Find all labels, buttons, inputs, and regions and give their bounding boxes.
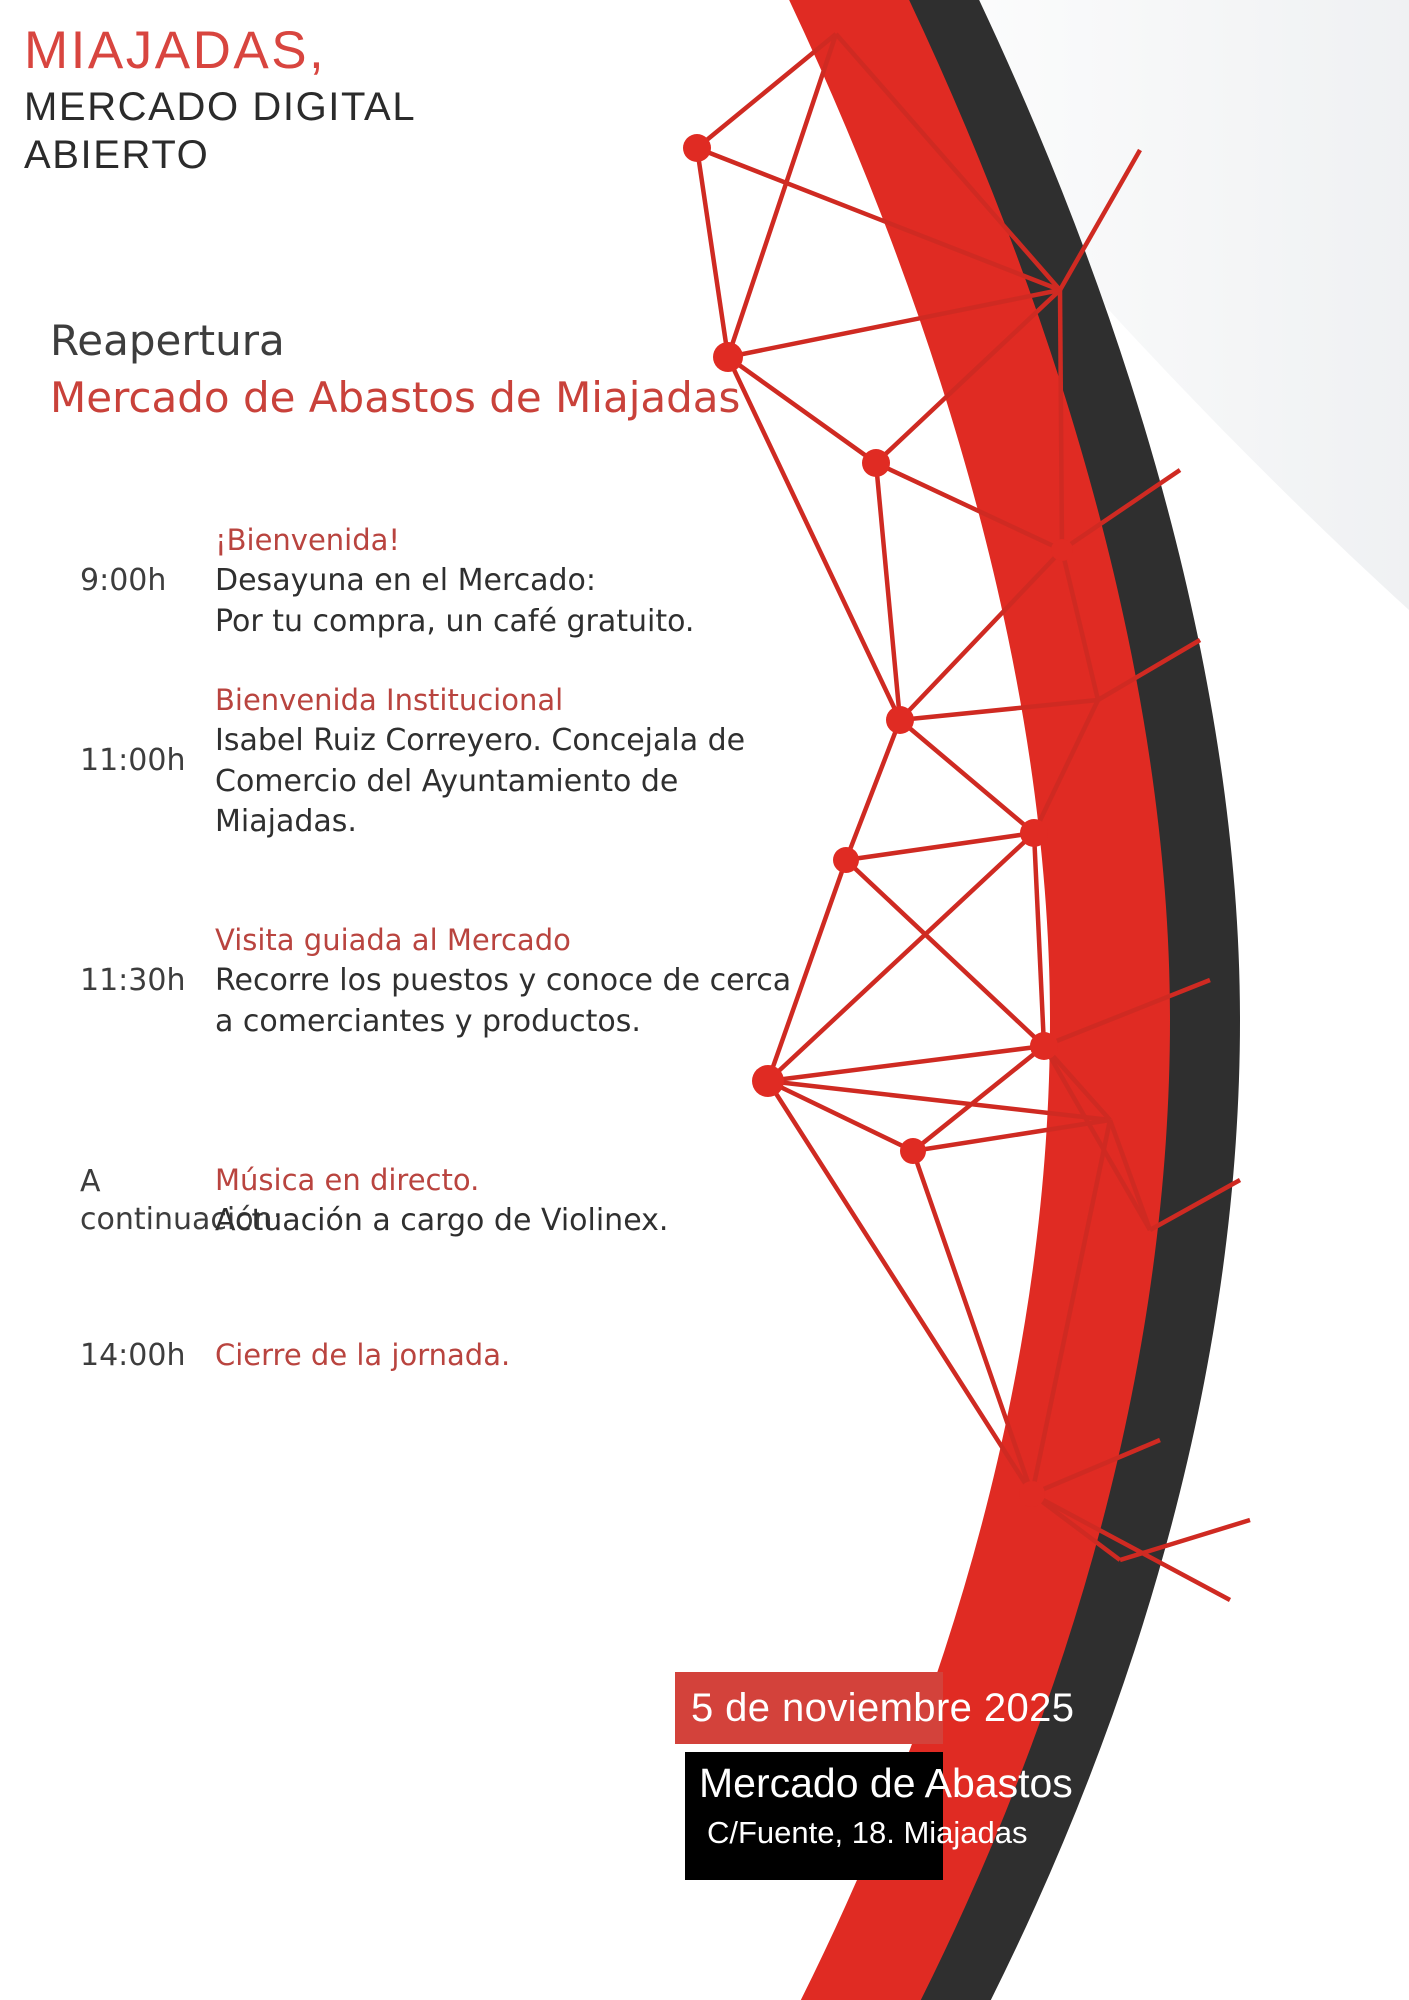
schedule-item: 11:30h Visita guiada al Mercado Recorre … bbox=[0, 920, 820, 1042]
headline: Reapertura Mercado de Abastos de Miajada… bbox=[50, 315, 810, 423]
event-date-badge: 5 de noviembre 2025 bbox=[675, 1672, 943, 1744]
schedule-title: Bienvenida Institucional bbox=[215, 680, 820, 721]
logo-line-miajadas: MIAJADAS, bbox=[24, 20, 644, 83]
schedule-description: Desayuna en el Mercado: Por tu compra, u… bbox=[215, 561, 820, 642]
schedule-body: Visita guiada al Mercado Recorre los pue… bbox=[215, 920, 820, 1042]
schedule-description: Actuación a cargo de Violinex. bbox=[215, 1201, 820, 1242]
schedule-time: 14:00h bbox=[0, 1337, 215, 1375]
schedule-time: 11:00h bbox=[0, 742, 215, 780]
schedule-title: Cierre de la jornada. bbox=[215, 1335, 820, 1376]
headline-subtitle: Reapertura bbox=[50, 315, 810, 366]
headline-title: Mercado de Abastos de Miajadas bbox=[50, 372, 810, 423]
schedule-time-line1: A bbox=[80, 1163, 215, 1201]
background-wash bbox=[840, 0, 1409, 620]
schedule-item: 11:00h Bienvenida Institucional Isabel R… bbox=[0, 680, 820, 843]
schedule-desc-line: Por tu compra, un café gratuito. bbox=[215, 602, 820, 643]
schedule-time: 9:00h bbox=[0, 562, 215, 600]
schedule-item: 14:00h Cierre de la jornada. bbox=[0, 1335, 820, 1376]
brand-logo: MIAJADAS, MERCADO DIGITAL ABIERTO bbox=[24, 20, 644, 180]
schedule-desc-line: Actuación a cargo de Violinex. bbox=[215, 1201, 820, 1242]
event-venue-name: Mercado de Abastos bbox=[685, 1758, 943, 1809]
schedule-body: Cierre de la jornada. bbox=[215, 1335, 820, 1376]
schedule-desc-line: Comercio del Ayuntamiento de bbox=[215, 762, 820, 803]
schedule-title: ¡Bienvenida! bbox=[215, 520, 820, 561]
schedule-body: ¡Bienvenida! Desayuna en el Mercado: Por… bbox=[215, 520, 820, 642]
schedule-time: A continuación: bbox=[0, 1163, 215, 1239]
schedule-desc-line: Recorre los puestos y conoce de cerca bbox=[215, 961, 820, 1002]
schedule-item: A continuación: Música en directo. Actua… bbox=[0, 1160, 820, 1242]
schedule-description: Isabel Ruiz Correyero. Concejala de Come… bbox=[215, 721, 820, 843]
schedule-body: Música en directo. Actuación a cargo de … bbox=[215, 1160, 820, 1242]
schedule-time-line1: 9:00h bbox=[80, 562, 215, 600]
schedule-desc-line: a comerciantes y productos. bbox=[215, 1002, 820, 1043]
schedule-desc-line: Isabel Ruiz Correyero. Concejala de bbox=[215, 721, 820, 762]
schedule-time-line2: continuación: bbox=[80, 1201, 215, 1239]
schedule-time-line1: 11:00h bbox=[80, 742, 215, 780]
schedule-desc-line: Miajadas. bbox=[215, 802, 820, 843]
logo-line-mercado-digital: MERCADO DIGITAL bbox=[24, 83, 644, 132]
schedule-time: 11:30h bbox=[0, 962, 215, 1000]
event-venue-address: C/Fuente, 18. Miajadas bbox=[685, 1813, 943, 1853]
schedule-time-line1: 14:00h bbox=[80, 1337, 215, 1375]
event-venue-badge: Mercado de Abastos C/Fuente, 18. Miajada… bbox=[685, 1752, 943, 1880]
schedule-item: 9:00h ¡Bienvenida! Desayuna en el Mercad… bbox=[0, 520, 820, 642]
schedule-description: Recorre los puestos y conoce de cerca a … bbox=[215, 961, 820, 1042]
schedule-time-line1: 11:30h bbox=[80, 962, 215, 1000]
event-date-text: 5 de noviembre 2025 bbox=[675, 1686, 1074, 1731]
schedule-desc-line: Desayuna en el Mercado: bbox=[215, 561, 820, 602]
logo-line-abierto: ABIERTO bbox=[24, 131, 644, 180]
schedule-title: Música en directo. bbox=[215, 1160, 820, 1201]
poster-canvas: MIAJADAS, MERCADO DIGITAL ABIERTO Reaper… bbox=[0, 0, 1409, 2000]
schedule-title: Visita guiada al Mercado bbox=[215, 920, 820, 961]
schedule-body: Bienvenida Institucional Isabel Ruiz Cor… bbox=[215, 680, 820, 843]
